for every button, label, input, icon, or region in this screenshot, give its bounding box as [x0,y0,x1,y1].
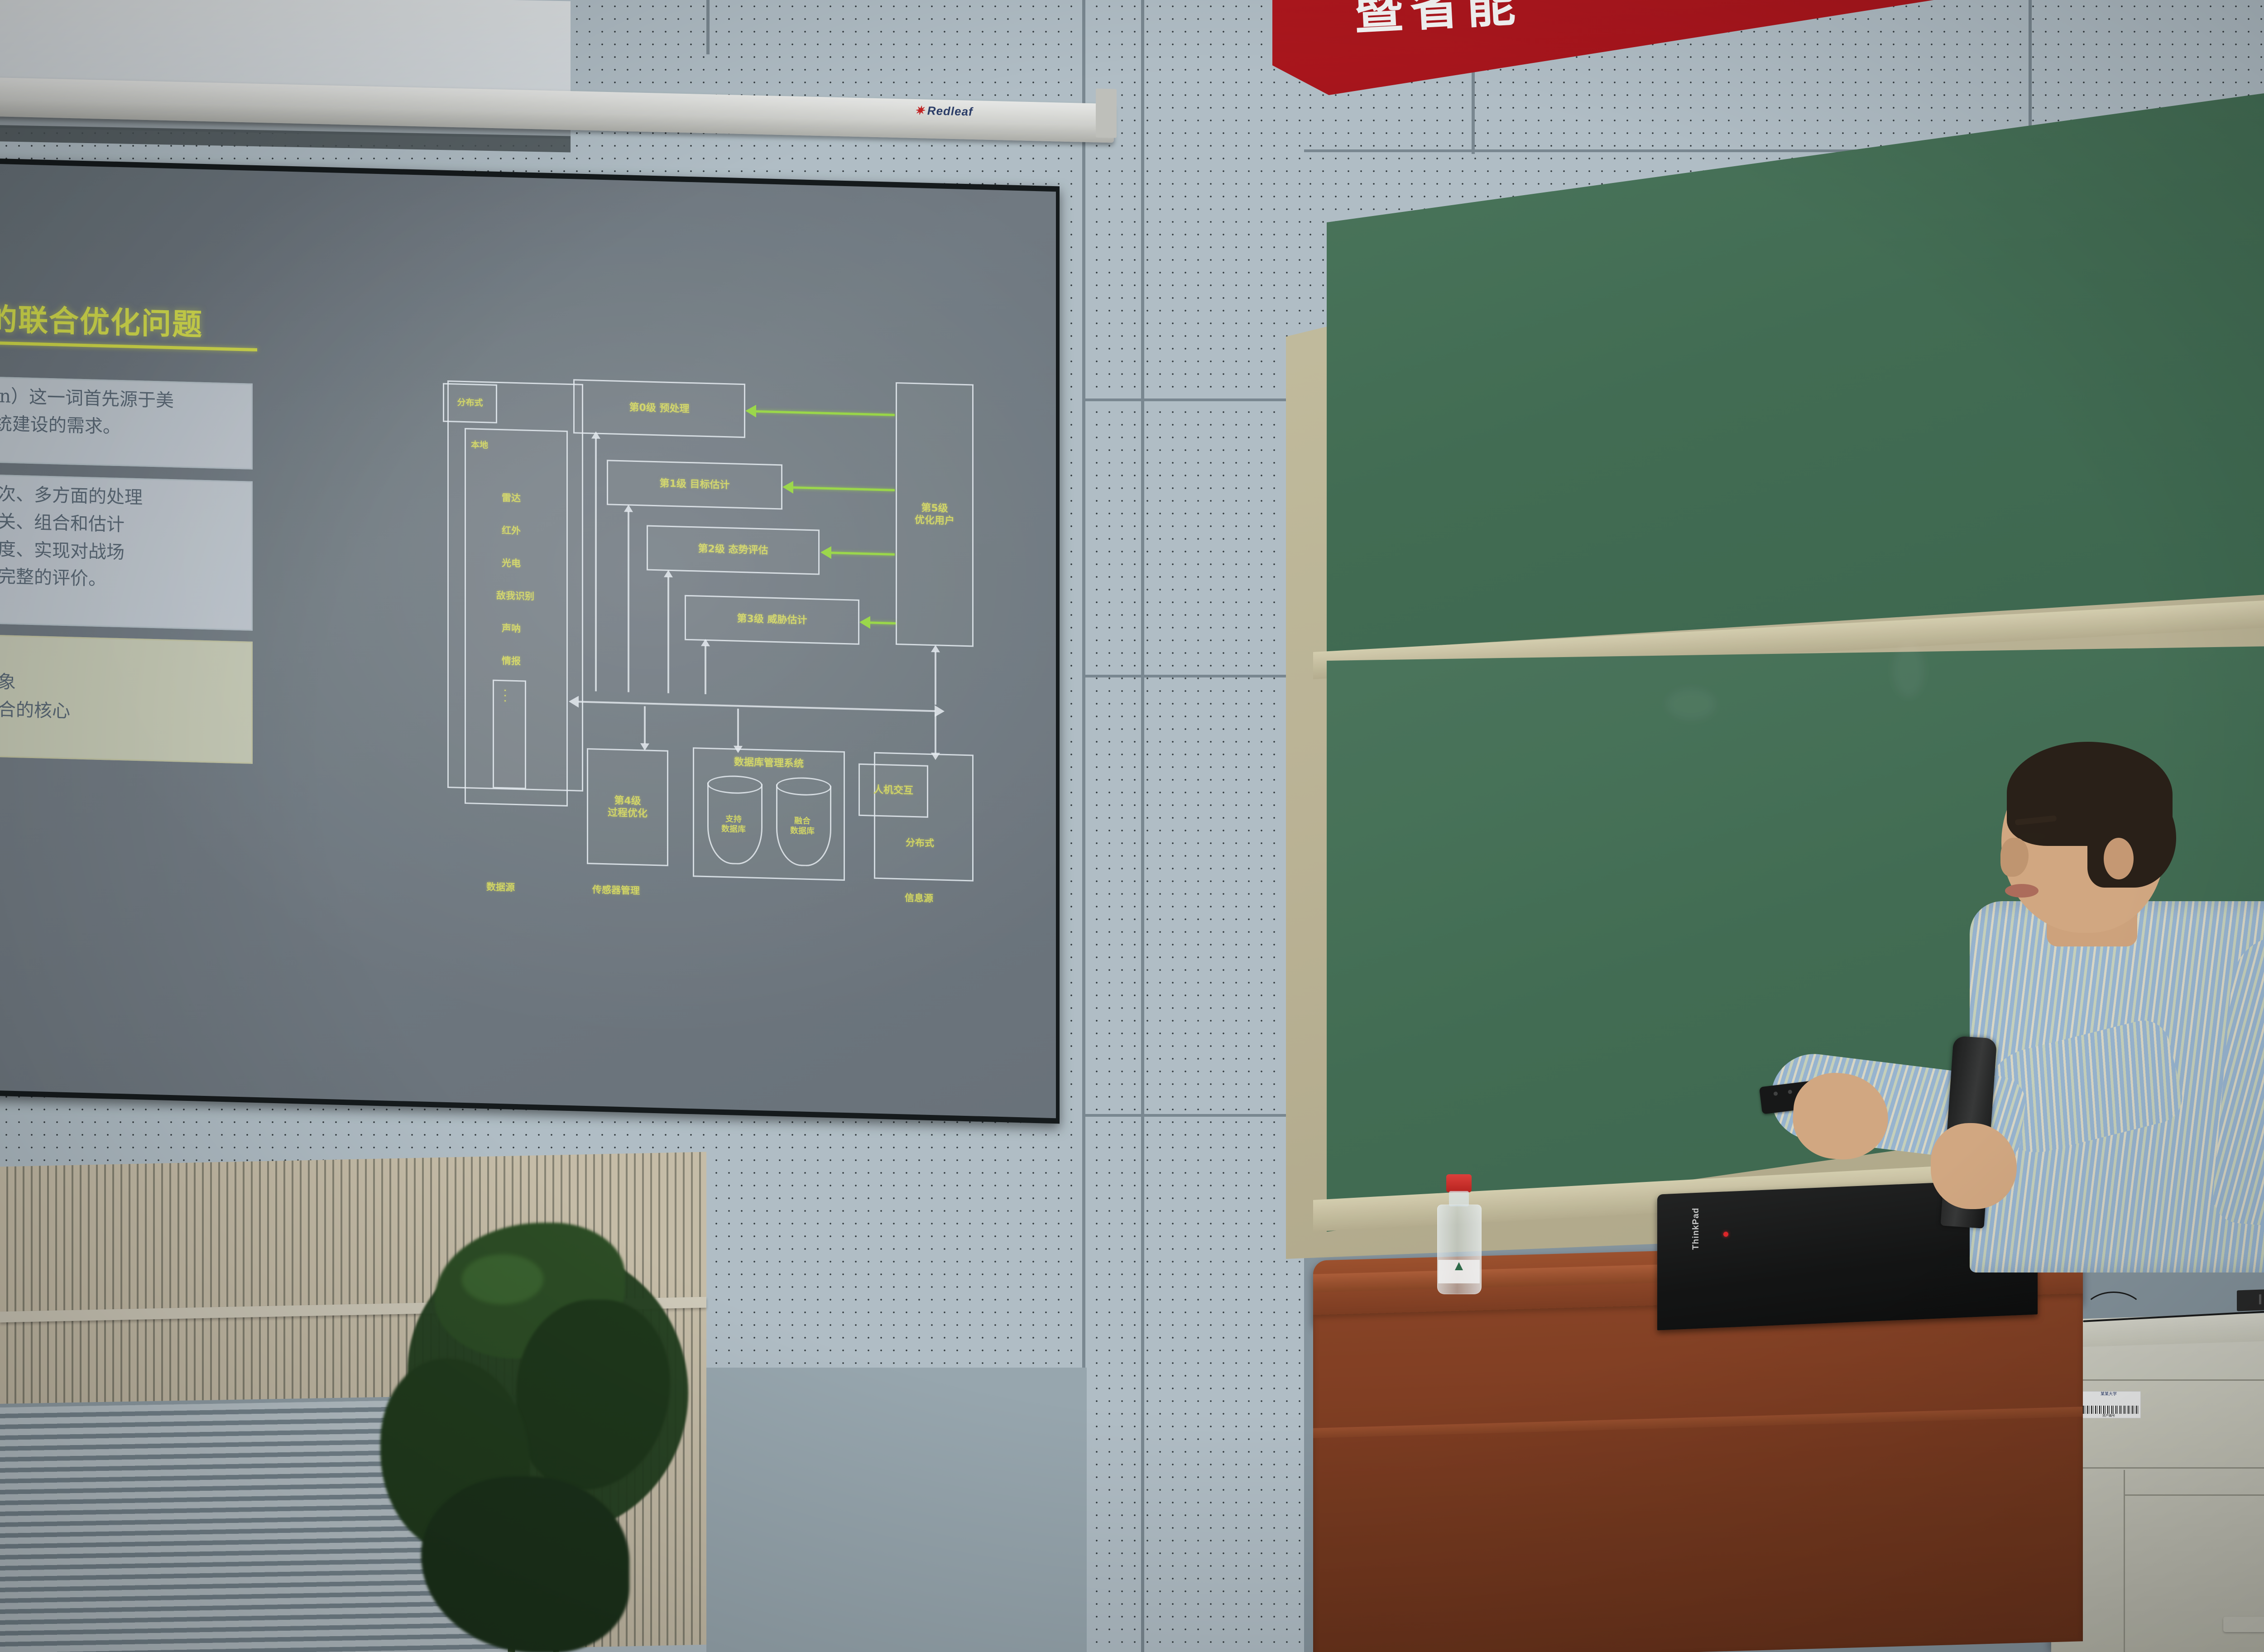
cabinet-asset-tag: 某某大学 资产编号 [2077,1391,2141,1418]
diagram-label-sensor-infrared: 红外 [502,523,521,537]
wall-lower-right-strip [706,1368,1087,1652]
diagram-bottom-label-data-source: 数据源 [486,879,515,894]
chalkboard-smudge [1666,688,1716,720]
wall-seam [1082,675,1309,677]
diagram-label-sensor-sonar: 声呐 [502,621,521,635]
projector-screen-casing-end [1096,88,1117,138]
diagram-arrow-user-to-level3 [869,621,896,624]
diagram-label-local: 本地 [471,438,488,451]
cabinet-seam [2051,1467,2264,1469]
diagram-arrow-user-to-level2 [830,552,895,556]
asset-tag-barcode [2079,1406,2139,1414]
asset-tag-org: 某某大学 [2077,1392,2140,1397]
wall-seam [1082,399,1309,401]
presenter-eye [2020,832,2046,840]
diagram-bottom-label-info-source: 信息源 [905,890,933,905]
diagram-arrow-up-level3 [705,645,706,694]
diagram-box-level3: 第3级 威胁估计 [685,595,859,645]
diagram-arrow-user-to-level0 [755,410,895,416]
cabinet-door-top [2124,1494,2264,1496]
thinkpad-red-dot-icon [1723,1232,1728,1237]
lecture-hall-photo: ✷Redleaf 融合中的联合优化问题 rmation Fusion）这一词首先… [0,0,2264,1652]
plant-foliage-highlight [462,1254,543,1304]
diagram-arrow-down-to-dbms [737,709,739,747]
bottle-cap [1446,1174,1472,1192]
diagram-arrow-user-to-level1 [792,486,895,491]
slide-text-block-definition: rmation Fusion）这一词首先源于美 源于军事C3I系统建设的需求。 [0,373,253,470]
wall-seam [1141,0,1144,1652]
bottle-label-mountain-icon [1455,1262,1463,1270]
diagram-cylinder-support-db: 支持 数据库 [707,775,760,865]
diagram-box-level1: 第1级 目标估计 [607,460,782,509]
diagram-arrow-down-to-hmi [935,714,936,754]
cabinet-seam [2051,1379,2264,1381]
diagram-box-level2: 第2级 态势评估 [647,525,820,575]
diagram-bus-line [578,701,935,712]
projector-brand-label: ✷Redleaf [915,103,973,119]
presenter-hand-on-mic [1931,1123,2017,1209]
presenter-ear [2104,838,2134,879]
wall-seam [1082,1114,1309,1117]
slide-text-block-bullets: 信息融合的基础 息融合加工的对象 合处理是信息融合的核心 [0,631,253,764]
cabinet-handle [2223,1617,2264,1632]
diagram-label-fusion-db: 融合 数据库 [776,816,829,836]
diagram-box-level4: 第4级 过程优化 [587,748,668,866]
clicker-button[interactable] [1773,1091,1778,1096]
wall-seam [706,0,710,54]
thinkpad-logo: ThinkPad [1691,1207,1701,1250]
asset-tag-number: 资产编号 [2077,1413,2140,1418]
diagram-box-level5-user: 第5级 优化用户 [896,382,974,647]
diagram-arrow-up-level1 [628,511,629,692]
diagram-box-sensor-stack [493,680,526,789]
bottle-label [1438,1260,1480,1283]
diagram-arrow-up-level2 [667,576,669,693]
diagram-arrow-up-to-user [935,651,936,705]
slide-title: 融合中的联合优化问题 [0,293,203,344]
projection-screen: 融合中的联合优化问题 rmation Fusion）这一词首先源于美 源于军事C… [0,163,1056,1118]
presenter-mouth [2005,884,2039,898]
redleaf-wordmark: Redleaf [927,104,973,118]
diagram-box-level0: 第0级 预处理 [573,379,745,438]
cabinet-door-edge [2124,1470,2125,1652]
diagram-arrow-up-level0 [595,438,597,692]
presenter [1834,725,2264,1359]
slide-text-block-description: 融合是一种多层次、多方面的处理 数据进行检测相关、组合和估计 和特性的估计精度、… [0,471,253,631]
redleaf-star-icon: ✷ [915,103,925,117]
jdl-fusion-diagram: 分布式 本地 雷达 红外 光电 敌我识别 声呐 情报 · · · 第0级 预处理… [443,370,995,919]
diagram-box-hmi: 人机交互 [859,764,928,818]
bottle-neck [1449,1191,1469,1206]
diagram-label-support-db: 支持 数据库 [707,814,760,835]
diagram-label-hmi-distributed: 分布式 [906,836,934,850]
diagram-label-sensor-intel: 情报 [502,653,521,668]
diagram-cylinder-fusion-db: 融合 数据库 [776,777,829,867]
diagram-bottom-label-sensor-mgmt: 传感器管理 [592,882,640,897]
diagram-label-sensor-eo: 光电 [502,556,521,570]
diagram-label-sensor-radar: 雷达 [502,490,521,504]
diagram-arrow-down-to-level4 [644,706,646,744]
clicker-button[interactable] [1788,1090,1792,1094]
chalkboard-smudge [1893,643,1924,697]
diagram-box-distributed: 分布式 [443,383,497,423]
diagram-label-sensor-iff: 敌我识别 [496,588,534,603]
